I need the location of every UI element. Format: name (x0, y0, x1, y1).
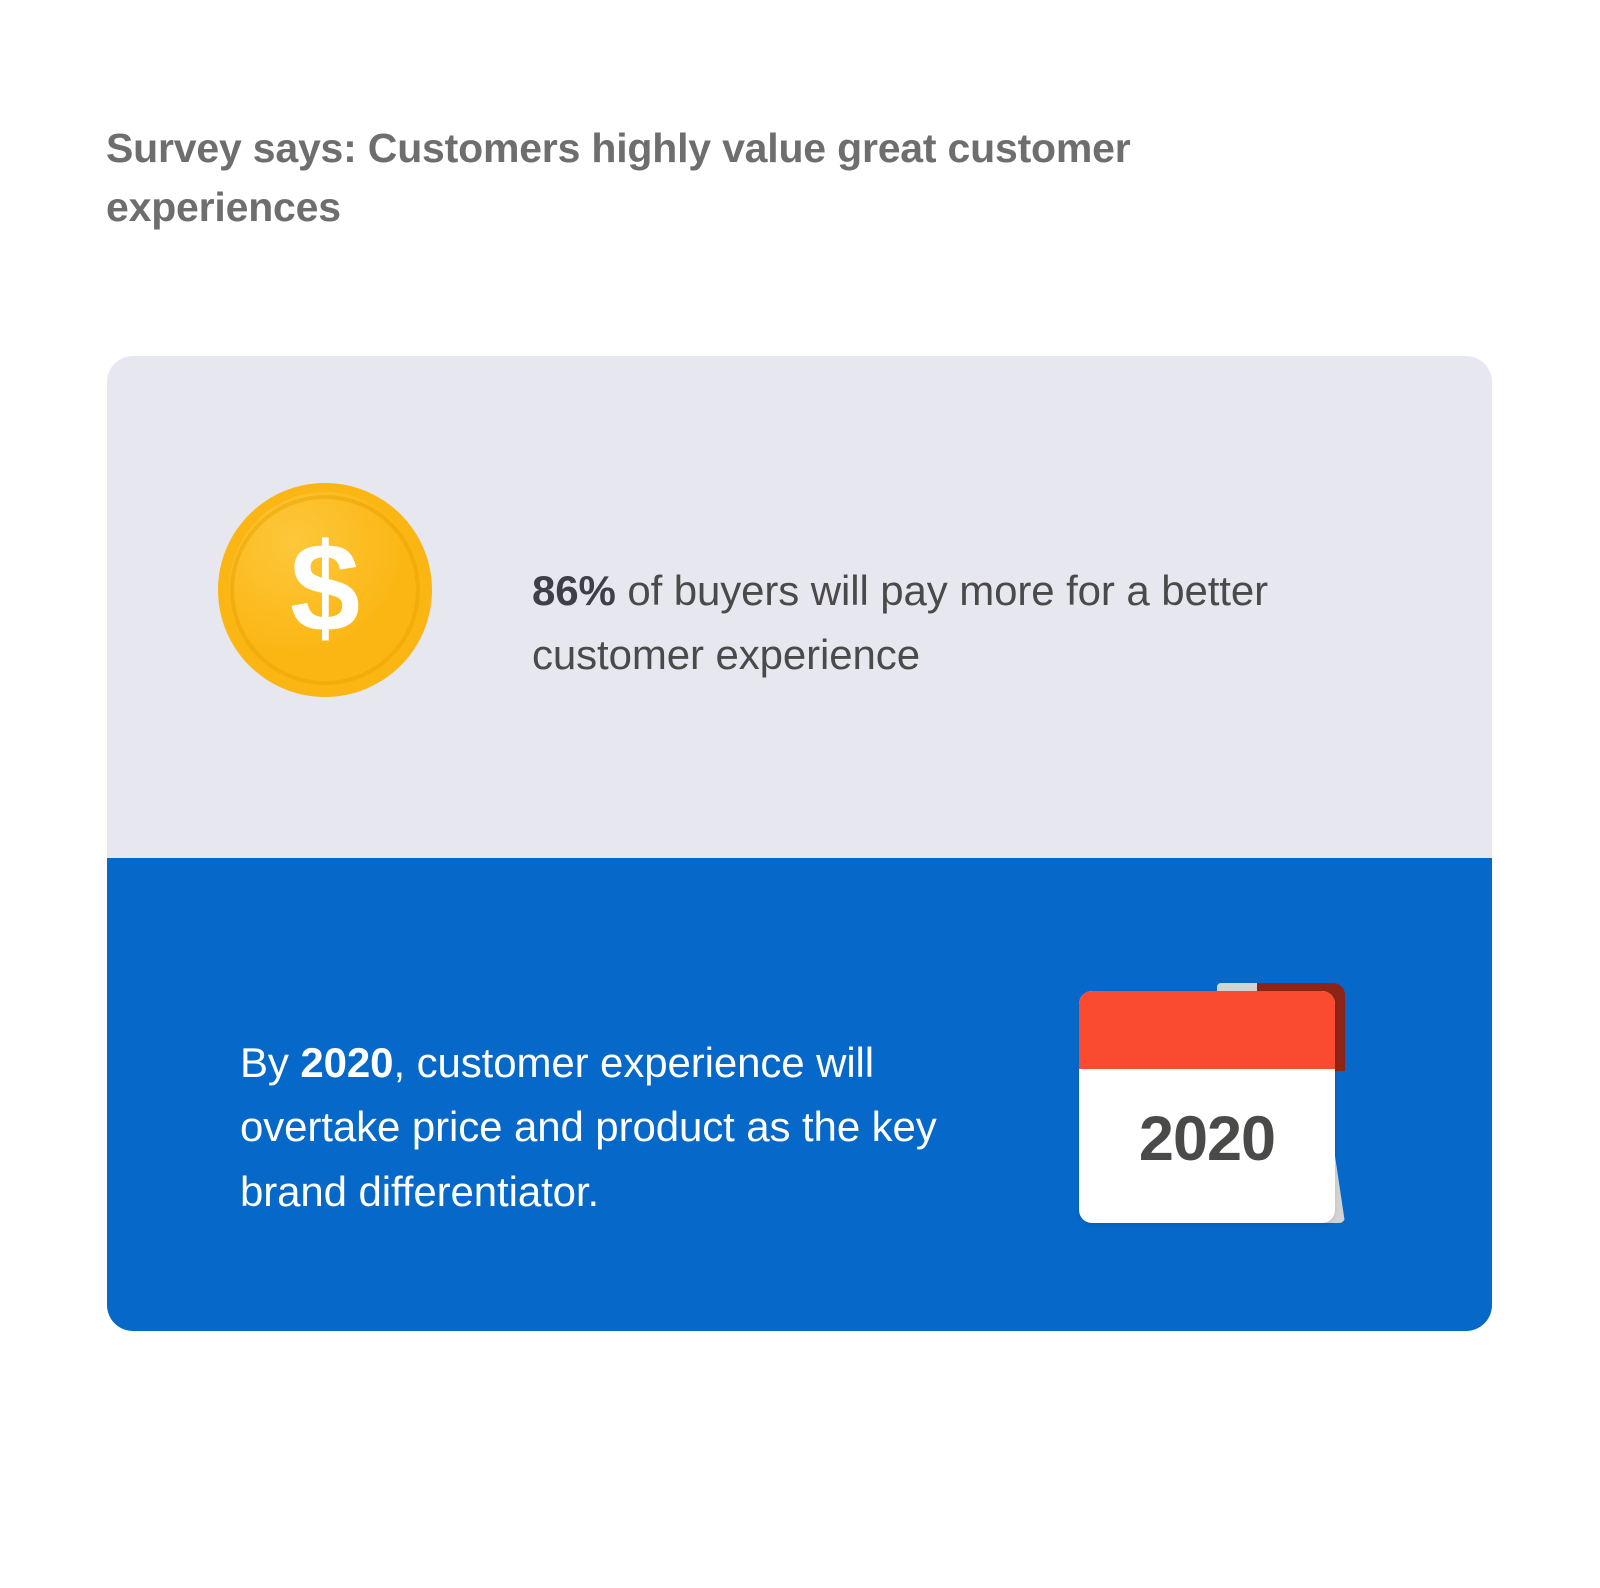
dollar-sign-icon: $ (218, 483, 432, 697)
gold-coin-icon: $ (218, 483, 432, 697)
stat-panel-light: $ 86% of buyers will pay more for a bett… (107, 356, 1492, 858)
calendar-icon: 2020 (1069, 973, 1369, 1223)
future-statement: By 2020, customer experience will overta… (240, 1031, 1000, 1224)
infographic-card: $ 86% of buyers will pay more for a bett… (107, 356, 1492, 1331)
stat-highlight: 86% (532, 567, 616, 614)
statement-year-highlight: 2020 (300, 1039, 393, 1086)
statement-lead: By (240, 1039, 300, 1086)
statement-panel-blue: By 2020, customer experience will overta… (107, 858, 1492, 1331)
page-title: Survey says: Customers highly value grea… (106, 119, 1226, 235)
calendar-header-band (1079, 991, 1335, 1069)
stat-statement: 86% of buyers will pay more for a better… (532, 559, 1362, 687)
calendar-front-page: 2020 (1079, 991, 1335, 1223)
stat-rest: of buyers will pay more for a better cus… (532, 567, 1268, 678)
calendar-year-label: 2020 (1079, 1069, 1335, 1223)
